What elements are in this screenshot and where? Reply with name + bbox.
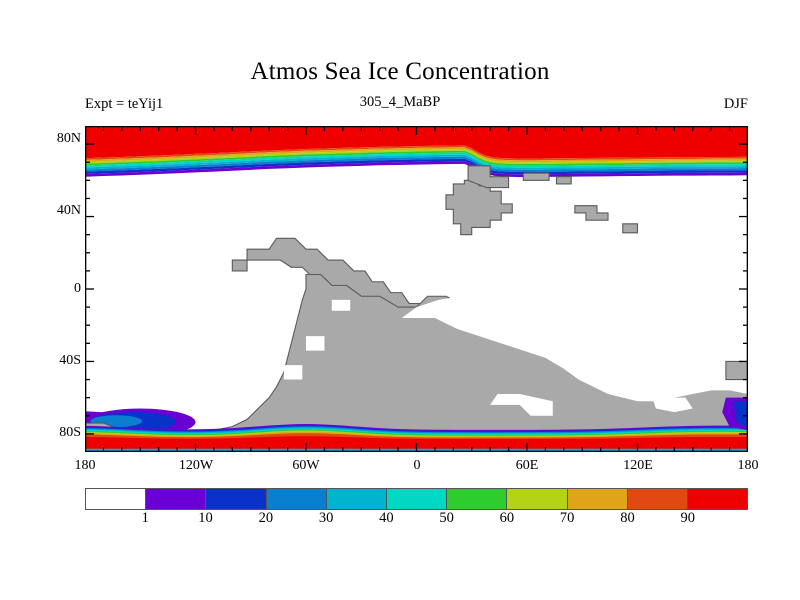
colorbar-label-1: 1	[125, 510, 165, 527]
y-tick-80s: 80S	[29, 425, 81, 441]
colorbar-label-50: 50	[427, 510, 467, 527]
colorbar-label-40: 40	[366, 510, 406, 527]
colorbar-band-2	[206, 489, 266, 509]
ocean-hole-a	[332, 300, 350, 311]
ocean-hole-c	[284, 365, 302, 379]
x-tick-180w: 180	[50, 458, 120, 474]
colorbar-band-8	[568, 489, 628, 509]
colorbar-band-4	[327, 489, 387, 509]
x-tick-120w: 120W	[161, 458, 231, 474]
x-tick-180e: 180	[713, 458, 783, 474]
x-tick-0: 0	[382, 458, 452, 474]
sea-ice-map-svg	[85, 126, 748, 452]
colorbar-label-80: 80	[607, 510, 647, 527]
colorbar-band-7	[507, 489, 567, 509]
colorbar-label-60: 60	[487, 510, 527, 527]
colorbar-band-9	[628, 489, 688, 509]
colorbar-band-6	[447, 489, 507, 509]
map-plot-area	[85, 126, 748, 452]
land-arctic-islet-a	[523, 173, 549, 180]
season-label: DJF	[724, 96, 748, 113]
colorbar-label-70: 70	[547, 510, 587, 527]
y-tick-40s: 40S	[29, 353, 81, 369]
figure-canvas: Atmos Sea Ice Concentration 305_4_MaBP E…	[0, 0, 800, 600]
colorbar-label-30: 30	[306, 510, 346, 527]
land-islet-e	[726, 361, 748, 379]
colorbar-band-10	[688, 489, 747, 509]
y-tick-0: 0	[29, 281, 81, 297]
land-arctic-islet-b	[556, 177, 571, 184]
y-tick-80n: 80N	[29, 131, 81, 147]
colorbar-band-5	[387, 489, 447, 509]
colorbar-band-3	[267, 489, 327, 509]
x-tick-120e: 120E	[603, 458, 673, 474]
colorbar-tick-labels: 1102030405060708090	[85, 510, 748, 530]
x-tick-60w: 60W	[271, 458, 341, 474]
ocean-hole-b	[306, 336, 324, 350]
colorbar-band-0	[86, 489, 146, 509]
colorbar-label-20: 20	[246, 510, 286, 527]
y-tick-40n: 40N	[29, 203, 81, 219]
colorbar-band-1	[146, 489, 206, 509]
experiment-label: Expt = teYij1	[85, 96, 163, 113]
colorbar-label-10: 10	[186, 510, 226, 527]
colorbar-swatches	[85, 488, 748, 510]
colorbar-label-90: 90	[668, 510, 708, 527]
land-islet-c	[232, 260, 247, 271]
land-island-b	[623, 224, 638, 233]
page-title: Atmos Sea Ice Concentration	[0, 58, 800, 86]
colorbar	[85, 488, 748, 510]
x-tick-60e: 60E	[492, 458, 562, 474]
